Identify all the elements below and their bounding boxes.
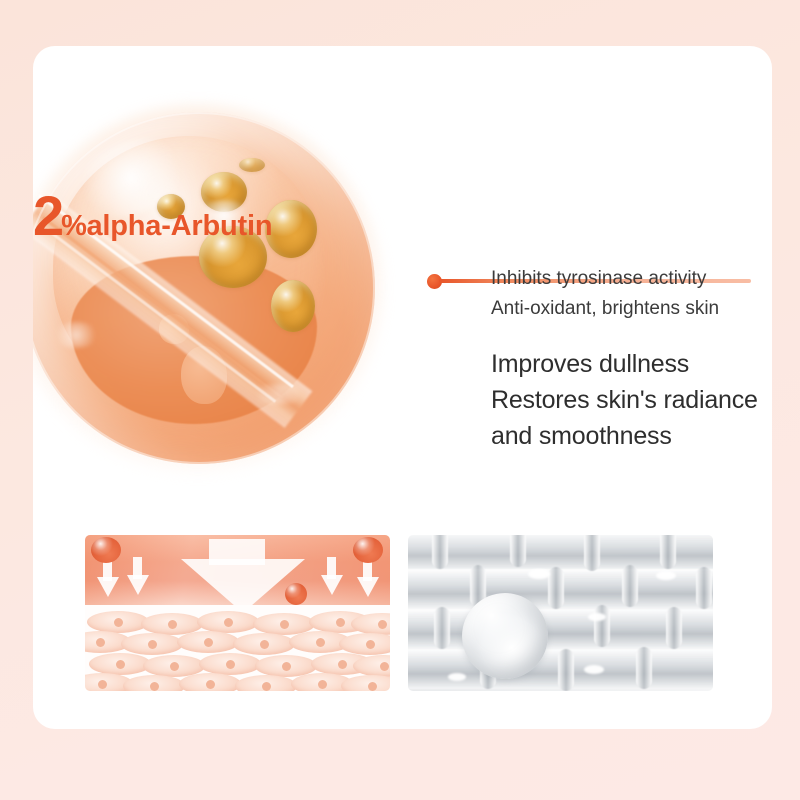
thumbnail-row [85,535,719,691]
title-ingredient-name: alpha-Arbutin [86,210,272,242]
penetration-arrow-icon [127,575,149,595]
crystal-structure-illustration [408,535,713,691]
page-background: 2%alpha-Arbutin Inhibits tyrosinase acti… [0,0,800,800]
content-card: 2%alpha-Arbutin Inhibits tyrosinase acti… [33,46,772,729]
crystal-highlight [528,569,550,579]
skin-cell [121,633,183,655]
gold-droplet [265,200,317,258]
crystal-highlight [656,571,676,580]
skin-cell [353,655,390,677]
benefit-secondary-item: Anti-oxidant, brightens skin [491,294,772,324]
skin-cell [89,653,151,675]
gold-droplet [271,280,315,332]
secondary-benefits-list: Inhibits tyrosinase activity Anti-oxidan… [491,264,772,324]
crystal-strut [696,567,712,609]
crystal-strut [594,605,610,647]
benefit-secondary-item: Inhibits tyrosinase activity [491,264,772,294]
active-molecule [91,537,121,563]
crystal-strut [666,607,682,649]
skin-cell [197,611,259,633]
penetration-arrow-icon [97,577,119,597]
gold-droplet [239,158,265,172]
crystal-diagram [408,535,713,691]
crystal-strut [584,535,600,571]
penetration-arrow-icon [321,575,343,595]
crystal-strut [558,649,574,691]
crystal-strut [660,535,676,569]
skin-penetration-illustration [85,535,390,691]
penetration-arrow-icon [357,577,379,597]
benefit-primary-item: and smoothness [491,418,772,454]
skin-cell [177,631,239,653]
crystal-strut [432,535,448,569]
crystal-highlight [588,613,606,621]
crystal-strut [434,607,450,649]
primary-benefits-list: Improves dullness Restores skin's radian… [491,346,772,454]
crystal-highlight [448,673,466,681]
skin-cell [233,633,295,655]
benefit-primary-item: Improves dullness [491,346,772,382]
skin-cell [179,673,241,691]
crystal-strut [636,647,652,689]
title-percentage-number: 2 [33,184,62,247]
crystal-highlight [584,665,604,674]
hero-product-image [33,64,413,514]
skin-cell [123,675,185,691]
active-molecule [353,537,383,563]
skin-cell-layers [85,605,390,691]
capsule-sphere [33,84,383,484]
skin-cell [351,613,390,635]
skin-cell [87,611,149,633]
skin-diagram [85,535,390,691]
page-title: 2%alpha-Arbutin [33,188,272,244]
skin-cell [199,653,261,675]
crystal-strut [622,565,638,607]
crystal-strut [548,567,564,609]
benefit-primary-item: Restores skin's radiance [491,382,772,418]
crystal-strut [510,535,526,567]
active-molecule [285,583,307,605]
skin-cell [339,633,390,655]
title-percent-sign: % [61,210,86,242]
skin-cell [235,675,297,691]
crystal-sphere [462,593,548,679]
